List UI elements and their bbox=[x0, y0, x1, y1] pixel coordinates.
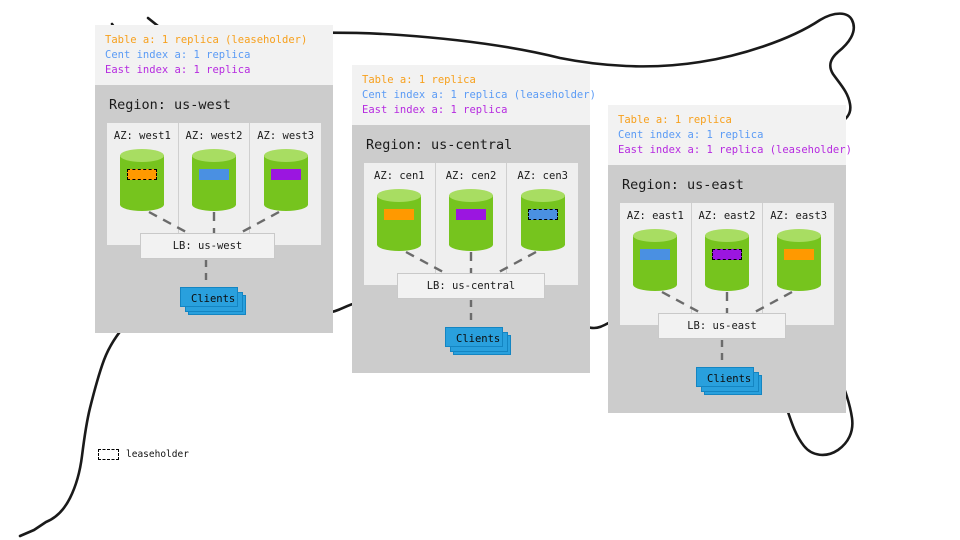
replica-line-table: Table a: 1 replica bbox=[618, 113, 836, 128]
az-label: AZ: east2 bbox=[699, 210, 756, 222]
load-balancer-us-central[interactable]: LB: us-central bbox=[397, 273, 545, 299]
replica-summary-us-east: Table a: 1 replica Cent index a: 1 repli… bbox=[608, 105, 846, 165]
az-cell-cen1[interactable]: AZ: cen1 bbox=[364, 163, 436, 285]
az-label: AZ: cen2 bbox=[446, 170, 497, 182]
az-cell-east2[interactable]: AZ: east2 bbox=[692, 203, 764, 325]
az-row-us-west: AZ: west1 AZ: west2 AZ: west3 bbox=[107, 123, 321, 245]
connector-lb-to-clients-us-east bbox=[715, 340, 729, 366]
replica-band-east-index bbox=[712, 249, 742, 260]
replica-line-cent-index: Cent index a: 1 replica bbox=[105, 48, 323, 63]
cylinder-top bbox=[633, 229, 677, 242]
az-cell-west3[interactable]: AZ: west3 bbox=[250, 123, 321, 245]
node-cylinder-west1[interactable] bbox=[120, 149, 164, 211]
cylinder-top bbox=[521, 189, 565, 202]
region-panel-us-central: Table a: 1 replica Cent index a: 1 repli… bbox=[352, 65, 590, 373]
replica-line-cent-index: Cent index a: 1 replica (leaseholder) bbox=[362, 88, 580, 103]
cylinder-body bbox=[521, 195, 565, 245]
load-balancer-us-west[interactable]: LB: us-west bbox=[140, 233, 275, 259]
region-title: Region: us-west bbox=[107, 85, 321, 123]
az-cell-west2[interactable]: AZ: west2 bbox=[179, 123, 251, 245]
node-cylinder-cen2[interactable] bbox=[449, 189, 493, 251]
legend-label: leaseholder bbox=[126, 449, 189, 460]
clients-box[interactable]: Clients bbox=[445, 327, 503, 347]
leaseholder-swatch-icon bbox=[98, 449, 119, 460]
az-cell-east1[interactable]: AZ: east1 bbox=[620, 203, 692, 325]
node-cylinder-east1[interactable] bbox=[633, 229, 677, 291]
connector-lb-to-clients-us-west bbox=[199, 260, 213, 286]
cylinder-top bbox=[192, 149, 236, 162]
az-label: AZ: east1 bbox=[627, 210, 684, 222]
replica-band-east-index bbox=[271, 169, 301, 180]
az-label: AZ: west2 bbox=[186, 130, 243, 142]
az-cell-west1[interactable]: AZ: west1 bbox=[107, 123, 179, 245]
connector-lb-to-clients-us-central bbox=[464, 300, 478, 326]
az-label: AZ: cen1 bbox=[374, 170, 425, 182]
load-balancer-us-east[interactable]: LB: us-east bbox=[658, 313, 786, 339]
cylinder-body bbox=[192, 155, 236, 205]
az-label: AZ: west1 bbox=[114, 130, 171, 142]
replica-summary-us-west: Table a: 1 replica (leaseholder) Cent in… bbox=[95, 25, 333, 85]
clients-group-us-east[interactable]: Clients bbox=[696, 367, 762, 395]
node-cylinder-cen3[interactable] bbox=[521, 189, 565, 251]
replica-band-table bbox=[127, 169, 157, 180]
node-cylinder-west2[interactable] bbox=[192, 149, 236, 211]
legend: leaseholder bbox=[98, 449, 189, 460]
clients-group-us-central[interactable]: Clients bbox=[445, 327, 511, 355]
region-panel-us-east: Table a: 1 replica Cent index a: 1 repli… bbox=[608, 105, 846, 413]
replica-band-table bbox=[384, 209, 414, 220]
replica-line-east-index: East index a: 1 replica bbox=[362, 103, 580, 118]
cylinder-body bbox=[377, 195, 421, 245]
cylinder-top bbox=[377, 189, 421, 202]
node-cylinder-east2[interactable] bbox=[705, 229, 749, 291]
node-cylinder-west3[interactable] bbox=[264, 149, 308, 211]
az-cell-cen2[interactable]: AZ: cen2 bbox=[436, 163, 508, 285]
replica-band-table bbox=[784, 249, 814, 260]
clients-box[interactable]: Clients bbox=[180, 287, 238, 307]
replica-band-east-index bbox=[456, 209, 486, 220]
az-row-us-central: AZ: cen1 AZ: cen2 AZ: cen3 bbox=[364, 163, 578, 285]
cylinder-top bbox=[777, 229, 821, 242]
az-cell-east3[interactable]: AZ: east3 bbox=[763, 203, 834, 325]
region-title: Region: us-east bbox=[620, 165, 834, 203]
cylinder-body bbox=[705, 235, 749, 285]
cylinder-body bbox=[777, 235, 821, 285]
cylinder-top bbox=[705, 229, 749, 242]
clients-stack: Clients bbox=[696, 367, 762, 395]
replica-line-east-index: East index a: 1 replica (leaseholder) bbox=[618, 143, 836, 158]
cylinder-body bbox=[120, 155, 164, 205]
replica-band-cent-index bbox=[640, 249, 670, 260]
node-cylinder-cen1[interactable] bbox=[377, 189, 421, 251]
cylinder-top bbox=[264, 149, 308, 162]
cylinder-body bbox=[633, 235, 677, 285]
cylinder-body bbox=[264, 155, 308, 205]
clients-stack: Clients bbox=[445, 327, 511, 355]
replica-band-cent-index bbox=[528, 209, 558, 220]
clients-stack: Clients bbox=[180, 287, 246, 315]
replica-line-east-index: East index a: 1 replica bbox=[105, 63, 323, 78]
replica-band-cent-index bbox=[199, 169, 229, 180]
clients-group-us-west[interactable]: Clients bbox=[180, 287, 246, 315]
clients-box[interactable]: Clients bbox=[696, 367, 754, 387]
cylinder-body bbox=[449, 195, 493, 245]
region-title: Region: us-central bbox=[364, 125, 578, 163]
replica-line-table: Table a: 1 replica bbox=[362, 73, 580, 88]
az-cell-cen3[interactable]: AZ: cen3 bbox=[507, 163, 578, 285]
cylinder-top bbox=[449, 189, 493, 202]
replica-line-table: Table a: 1 replica (leaseholder) bbox=[105, 33, 323, 48]
node-cylinder-east3[interactable] bbox=[777, 229, 821, 291]
region-panel-us-west: Table a: 1 replica (leaseholder) Cent in… bbox=[95, 25, 333, 333]
az-row-us-east: AZ: east1 AZ: east2 AZ: east3 bbox=[620, 203, 834, 325]
az-label: AZ: east3 bbox=[770, 210, 827, 222]
cylinder-top bbox=[120, 149, 164, 162]
replica-summary-us-central: Table a: 1 replica Cent index a: 1 repli… bbox=[352, 65, 590, 125]
az-label: AZ: west3 bbox=[257, 130, 314, 142]
az-label: AZ: cen3 bbox=[517, 170, 568, 182]
replica-line-cent-index: Cent index a: 1 replica bbox=[618, 128, 836, 143]
